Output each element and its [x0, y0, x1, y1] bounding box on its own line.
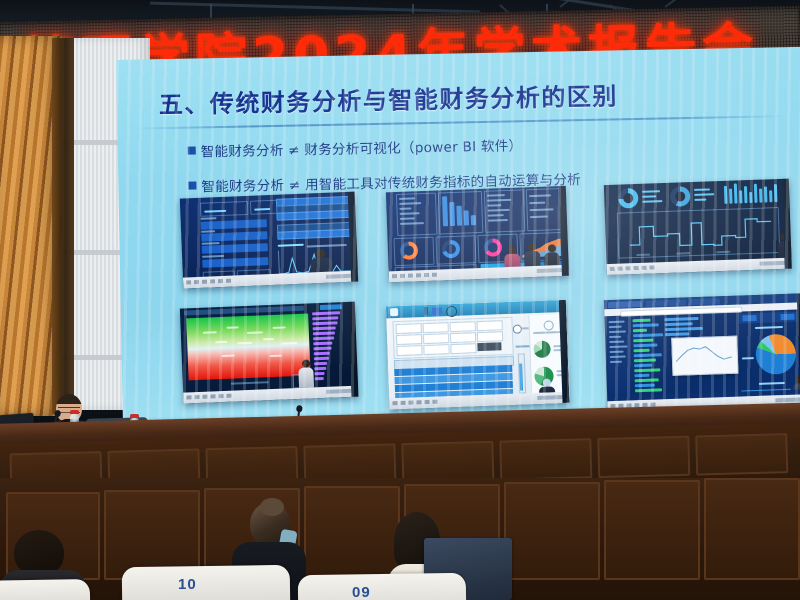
popup-line-chart	[675, 342, 732, 366]
dashboard-thumbnail-5	[386, 300, 570, 410]
wall-panel-section	[604, 480, 700, 580]
projection-screen: 五、传统财务分析与智能财务分析的区别 智能财务分析 ≠ 财务分析可视化（powe…	[116, 47, 800, 435]
square-bullet-icon	[188, 181, 196, 189]
slide-bullet-1: 智能财务分析 ≠ 财务分析可视化（power BI 软件）	[188, 134, 523, 160]
dashboard-thumbnail-3	[604, 179, 792, 275]
conference-photo: 管理学院2024年学术报告会 五、传统财务分析与智能财务分析的区别 智能财务分析…	[0, 0, 800, 600]
dashboard-thumbnail-2	[386, 186, 569, 283]
slide-title: 五、传统财务分析与智能财务分析的区别	[158, 76, 618, 120]
wall-panel-section	[504, 482, 600, 580]
hair-bun	[260, 498, 284, 516]
curtain-fold-dark	[52, 38, 74, 414]
dashboard-thumbnail-6	[604, 293, 800, 412]
table-panel	[597, 436, 690, 478]
slide-bullet-1-text: 智能财务分析 ≠ 财务分析可视化（power BI 软件）	[201, 134, 523, 160]
table-panel	[499, 438, 592, 480]
table-panel	[695, 433, 788, 475]
wall-panel-section	[304, 486, 400, 580]
step-line-chart	[629, 212, 772, 251]
pie-chart-blue-orange	[755, 334, 796, 375]
audience-seat-10	[122, 565, 291, 600]
dashboard-thumbnail-4	[180, 302, 359, 404]
audience-seat-number-09: 09	[352, 584, 371, 600]
dashboard-thumbnail-1	[180, 192, 358, 289]
square-bullet-icon	[188, 146, 196, 154]
heatmap-gradient	[186, 314, 310, 381]
audience-seat-09	[298, 573, 467, 600]
audience-seat-left	[0, 579, 90, 600]
table-panel	[401, 441, 494, 483]
audience-seat-number-10: 10	[178, 576, 197, 593]
wall-panel-section	[704, 478, 800, 580]
